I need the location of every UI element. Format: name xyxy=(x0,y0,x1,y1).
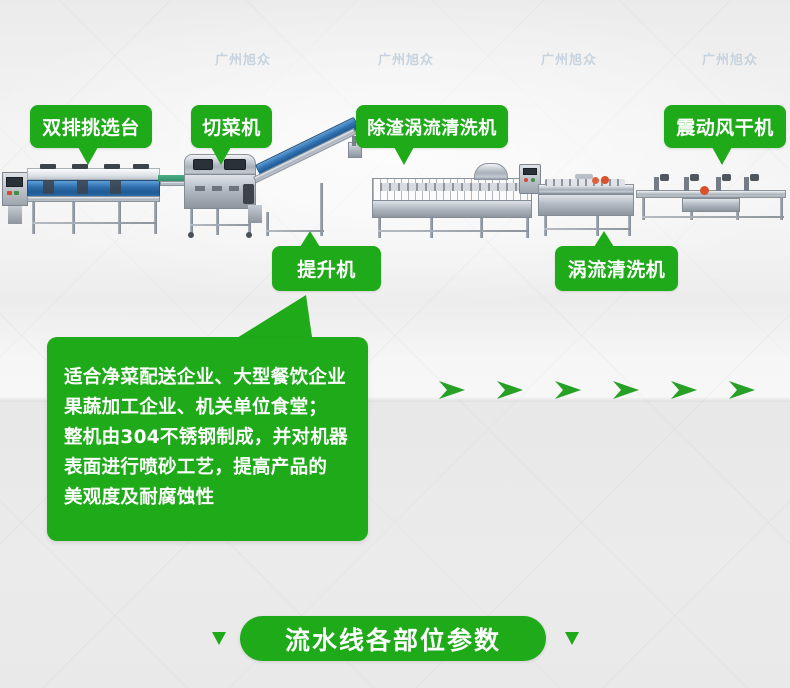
flow-arrow-icon-1 xyxy=(437,378,467,402)
flow-arrow-icon-5 xyxy=(669,378,699,402)
watermark-4: 广州旭众 xyxy=(702,49,758,68)
label-vegetable-cutter[interactable]: 切菜机 xyxy=(191,105,272,148)
label-vortex-washer[interactable]: 涡流清洗机 xyxy=(555,246,678,291)
description-line-4: 表面进行喷砂工艺，提高产品的 xyxy=(64,453,368,483)
description-callout: 适合净菜配送企业、大型餐饮企业 果蔬加工企业、机关单位食堂； 整机由304不锈钢… xyxy=(47,337,368,541)
description-pointer xyxy=(232,295,312,343)
label-vegetable-cutter-text: 切菜机 xyxy=(202,113,261,140)
description-line-3: 整机由304不锈钢制成，并对机器 xyxy=(64,423,368,453)
production-line-illustration xyxy=(0,150,790,255)
label-vibrating-air-dryer-pointer xyxy=(712,147,732,165)
flow-arrow-icon-3 xyxy=(553,378,583,402)
label-slag-removal-vortex-washer-pointer xyxy=(394,147,414,165)
label-slag-removal-vortex-washer[interactable]: 除渣涡流清洗机 xyxy=(356,105,508,148)
watermark-3: 广州旭众 xyxy=(541,49,597,68)
banner-left-chevron-down-icon xyxy=(212,632,226,645)
description-line-2: 果蔬加工企业、机关单位食堂； xyxy=(64,393,368,423)
label-vortex-washer-pointer xyxy=(594,231,614,247)
label-slag-removal-vortex-washer-text: 除渣涡流清洗机 xyxy=(367,114,497,140)
label-vibrating-air-dryer-text: 震动风干机 xyxy=(676,113,774,140)
section-title-text: 流水线各部位参数 xyxy=(285,621,501,657)
flow-arrow-icon-6 xyxy=(727,378,757,402)
watermark-1: 广州旭众 xyxy=(215,49,271,68)
watermark-2: 广州旭众 xyxy=(378,49,434,68)
label-sorting-table-text: 双排挑选台 xyxy=(42,113,140,140)
flow-arrow-icon-2 xyxy=(495,378,525,402)
product-detail-page: 广州旭众 广州旭众 广州旭众 广州旭众 xyxy=(0,0,790,688)
label-elevator-conveyor-pointer xyxy=(300,231,320,247)
label-sorting-table[interactable]: 双排挑选台 xyxy=(30,105,152,148)
label-elevator-conveyor[interactable]: 提升机 xyxy=(272,246,381,291)
flow-arrow-icon-4 xyxy=(611,378,641,402)
label-sorting-table-pointer xyxy=(78,147,98,165)
banner-right-chevron-down-icon xyxy=(565,632,579,645)
label-vegetable-cutter-pointer xyxy=(211,147,231,165)
description-line-1: 适合净菜配送企业、大型餐饮企业 xyxy=(64,363,368,393)
description-line-5: 美观度及耐腐蚀性 xyxy=(64,483,368,513)
flow-arrow-group xyxy=(437,378,737,404)
label-elevator-conveyor-text: 提升机 xyxy=(297,255,356,282)
section-title-banner[interactable]: 流水线各部位参数 xyxy=(240,616,546,661)
label-vortex-washer-text: 涡流清洗机 xyxy=(568,255,666,282)
label-vibrating-air-dryer[interactable]: 震动风干机 xyxy=(664,105,786,148)
